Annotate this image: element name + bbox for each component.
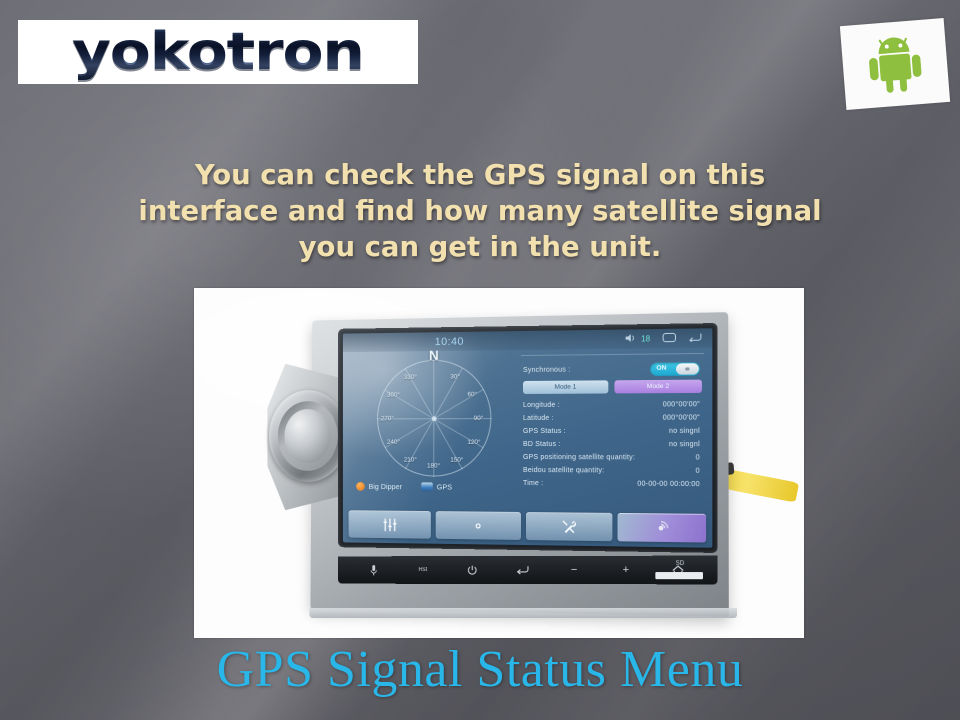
back-icon[interactable] xyxy=(688,332,702,344)
status-icons: 18 xyxy=(626,332,702,345)
sync-row: Synchronous : ON xyxy=(521,359,704,379)
sync-toggle[interactable]: ON xyxy=(650,362,700,376)
speaker-icon xyxy=(626,333,637,345)
compass-degree-label: 270° xyxy=(381,415,394,422)
big-dipper-dot-icon xyxy=(356,482,365,491)
legend-gps: GPS xyxy=(421,482,452,491)
knob-mid-ring xyxy=(278,400,338,471)
recents-icon[interactable] xyxy=(663,332,676,344)
compass-legend: Big Dipper GPS xyxy=(356,482,452,492)
longitude-label: Longitude : xyxy=(523,402,560,409)
info-row-time: Time : 00-00-00 00:00:00 xyxy=(521,477,704,491)
legend-big-dipper-label: Big Dipper xyxy=(369,482,402,491)
latitude-value: 000°00'00" xyxy=(663,414,700,421)
beidou-satellite-qty-label: Beidou satellite quantity: xyxy=(523,467,604,474)
compass-dial: N 30°60°90°120°150°180°210°240°270°300°3… xyxy=(377,359,491,476)
legend-big-dipper: Big Dipper xyxy=(356,482,402,491)
gps-satellite-icon xyxy=(421,482,433,491)
equalizer-icon xyxy=(381,516,397,533)
reset-button[interactable]: Rst xyxy=(398,567,447,573)
time-label: Time : xyxy=(523,480,543,487)
settings-button[interactable] xyxy=(436,511,521,540)
info-row-latitude: Latitude : 000°00'00" xyxy=(521,411,704,425)
compass-degree-label: 90° xyxy=(474,415,484,422)
gps-button[interactable] xyxy=(617,513,706,543)
gps-status-value: no singnl xyxy=(669,428,700,435)
yokotron-logo: yokotron xyxy=(18,20,418,84)
status-bar: 10:40 18 xyxy=(343,328,712,352)
tools-icon xyxy=(560,518,577,535)
panel-divider xyxy=(521,353,704,356)
time-value: 00-00-00 00:00:00 xyxy=(637,481,700,489)
bd-status-label: BD Status : xyxy=(523,441,561,448)
android-robot-icon xyxy=(865,32,926,96)
physical-button-bar: Rst − + SD xyxy=(338,556,717,585)
knob-cap xyxy=(284,409,330,464)
sync-toggle-knob xyxy=(676,363,699,374)
legend-gps-label: GPS xyxy=(437,482,452,491)
mic-button[interactable] xyxy=(350,565,399,576)
back-button[interactable] xyxy=(498,565,549,575)
info-row-gps-status: GPS Status : no singnl xyxy=(521,425,704,438)
compass-degree-label: 210° xyxy=(404,456,417,463)
compass-degree-label: 30° xyxy=(450,374,460,381)
slide-canvas: yokotron You can check the GPS signal on… xyxy=(0,0,960,720)
mode-1-button[interactable]: Mode 1 xyxy=(523,380,608,394)
compass-degree-label: 60° xyxy=(467,391,477,398)
compass-degree-label: 150° xyxy=(450,456,463,463)
compass-degree-label: 180° xyxy=(427,463,440,470)
info-row-gps-qty: GPS positioning satellite quantity: 0 xyxy=(521,451,704,465)
status-time: 10:40 xyxy=(435,335,464,347)
tools-button[interactable] xyxy=(525,512,612,541)
car-head-unit: 10:40 18 xyxy=(246,308,736,613)
volume-value: 18 xyxy=(641,334,650,343)
head-unit-photo: 10:40 18 xyxy=(194,288,804,638)
yokotron-logo-text: yokotron xyxy=(72,22,364,82)
longitude-value: 000°00'00" xyxy=(663,401,700,408)
volume-up-button[interactable]: + xyxy=(600,564,652,576)
compass-degree-label: 120° xyxy=(467,439,480,446)
latitude-label: Latitude : xyxy=(523,415,554,422)
compass-degree-label: 300° xyxy=(387,392,400,399)
equalizer-button[interactable] xyxy=(349,510,432,538)
beidou-satellite-qty-value: 0 xyxy=(696,468,700,475)
compass-degree-label: 240° xyxy=(387,439,400,446)
unit-base xyxy=(310,608,737,618)
compass-panel: N 30°60°90°120°150°180°210°240°270°300°3… xyxy=(352,353,515,505)
sync-label: Synchronous : xyxy=(523,367,570,374)
compass-spoke xyxy=(433,360,434,418)
slide-caption: GPS Signal Status Menu xyxy=(0,640,960,699)
info-row-longitude: Longitude : 000°00'00" xyxy=(521,398,704,412)
satellite-icon xyxy=(653,519,671,537)
gear-icon xyxy=(470,517,487,534)
volume-down-button[interactable]: − xyxy=(548,564,599,576)
lcd-screen: 10:40 18 xyxy=(343,328,712,548)
bd-status-value: no singnl xyxy=(669,441,700,448)
info-row-beidou-qty: Beidou satellite quantity: 0 xyxy=(521,464,704,478)
gps-status-label: GPS Status : xyxy=(523,428,566,435)
power-button[interactable] xyxy=(448,565,498,576)
gps-satellite-qty-label: GPS positioning satellite quantity: xyxy=(523,454,635,461)
sync-toggle-label: ON xyxy=(656,365,666,372)
headline-text: You can check the GPS signal on this int… xyxy=(130,158,830,265)
info-row-bd-status: BD Status : no singnl xyxy=(521,438,704,451)
screen-bezel: 10:40 18 xyxy=(338,323,717,553)
mode-buttons: Mode 1 Mode 2 xyxy=(521,378,704,399)
gps-satellite-qty-value: 0 xyxy=(696,454,700,461)
android-logo-badge xyxy=(840,18,950,110)
sd-card-slot[interactable] xyxy=(655,572,703,579)
sd-slot-label: SD xyxy=(676,561,685,567)
compass-degree-label: 330° xyxy=(404,374,417,381)
app-button-bar xyxy=(343,507,712,545)
gps-info-panel: Synchronous : ON Mode 1 Mode 2 Longitude xyxy=(521,353,704,491)
mode-2-button[interactable]: Mode 2 xyxy=(614,380,702,394)
